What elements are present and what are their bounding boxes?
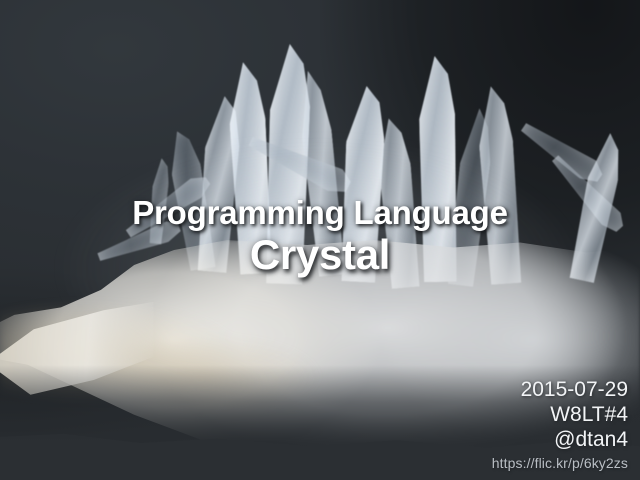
photo-credit-link[interactable]: https://flic.kr/p/6ky2zs xyxy=(492,455,628,471)
title-line-subject: Programming Language xyxy=(0,196,640,231)
metadata-event: W8LT#4 xyxy=(521,403,628,428)
title-line-name: Crystal xyxy=(0,231,640,280)
slide-metadata: 2015-07-29 W8LT#4 @dtan4 xyxy=(521,378,628,452)
metadata-date: 2015-07-29 xyxy=(521,378,628,403)
presentation-slide: Programming Language Crystal 2015-07-29 … xyxy=(0,0,640,480)
metadata-author: @dtan4 xyxy=(521,428,628,453)
slide-title: Programming Language Crystal xyxy=(0,196,640,280)
